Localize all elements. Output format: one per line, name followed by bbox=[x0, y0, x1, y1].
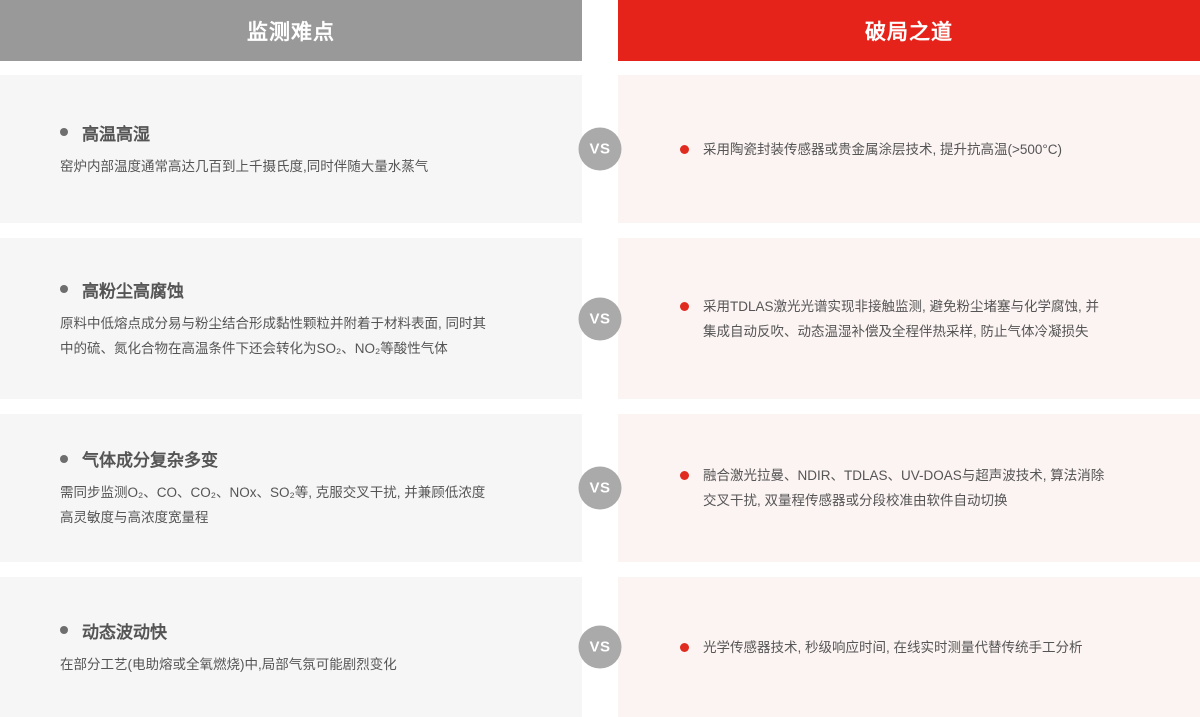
challenge-title: 高粉尘高腐蚀 bbox=[82, 277, 184, 302]
solution-item: 融合激光拉曼、NDIR、TDLAS、UV-DOAS与超声波技术, 算法消除交叉干… bbox=[680, 463, 1140, 513]
bullet-dot-icon bbox=[680, 643, 689, 652]
vs-badge: VS bbox=[579, 297, 622, 340]
challenge-title-wrap: 高温高湿 bbox=[60, 120, 526, 145]
challenge-description: 需同步监测O₂、CO、CO₂、NOx、SO₂等, 克服交叉干扰, 并兼顾低浓度高… bbox=[60, 480, 492, 530]
solution-item: 采用陶瓷封装传感器或贵金属涂层技术, 提升抗高温(>500°C) bbox=[680, 137, 1140, 162]
challenge-description: 原料中低熔点成分易与粉尘结合形成黏性颗粒并附着于材料表面, 同时其中的硫、氮化合… bbox=[60, 311, 492, 361]
challenge-cell: 动态波动快 在部分工艺(电助熔或全氧燃烧)中,局部气氛可能剧烈变化 bbox=[0, 577, 582, 717]
solution-cell: 光学传感器技术, 秒级响应时间, 在线实时测量代替传统手工分析 bbox=[618, 577, 1200, 717]
solution-text: 采用陶瓷封装传感器或贵金属涂层技术, 提升抗高温(>500°C) bbox=[703, 137, 1062, 162]
challenge-cell: 高粉尘高腐蚀 原料中低熔点成分易与粉尘结合形成黏性颗粒并附着于材料表面, 同时其… bbox=[0, 238, 582, 399]
comparison-board: 监测难点 破局之道 高温高湿 窑炉内部温度通常高达几百到上千摄氏度,同时伴随大量… bbox=[0, 0, 1200, 701]
solution-item: 采用TDLAS激光光谱实现非接触监测, 避免粉尘堵塞与化学腐蚀, 并集成自动反吹… bbox=[680, 294, 1140, 344]
challenge-title-wrap: 高粉尘高腐蚀 bbox=[60, 277, 526, 302]
comparison-row: 气体成分复杂多变 需同步监测O₂、CO、CO₂、NOx、SO₂等, 克服交叉干扰… bbox=[0, 414, 1200, 562]
challenge-title-wrap: 气体成分复杂多变 bbox=[60, 446, 526, 471]
challenge-description: 在部分工艺(电助熔或全氧燃烧)中,局部气氛可能剧烈变化 bbox=[60, 652, 492, 677]
solution-item: 光学传感器技术, 秒级响应时间, 在线实时测量代替传统手工分析 bbox=[680, 635, 1140, 660]
challenge-title: 动态波动快 bbox=[82, 618, 167, 643]
solution-cell: 融合激光拉曼、NDIR、TDLAS、UV-DOAS与超声波技术, 算法消除交叉干… bbox=[618, 414, 1200, 562]
challenge-title-wrap: 动态波动快 bbox=[60, 618, 526, 643]
header-divider bbox=[582, 0, 618, 61]
bullet-dot-icon bbox=[60, 128, 68, 136]
solution-text: 融合激光拉曼、NDIR、TDLAS、UV-DOAS与超声波技术, 算法消除交叉干… bbox=[703, 463, 1107, 513]
bullet-dot-icon bbox=[60, 285, 68, 293]
header-solutions: 破局之道 bbox=[618, 0, 1200, 61]
challenge-cell: 气体成分复杂多变 需同步监测O₂、CO、CO₂、NOx、SO₂等, 克服交叉干扰… bbox=[0, 414, 582, 562]
vs-badge: VS bbox=[579, 467, 622, 510]
solution-cell: 采用陶瓷封装传感器或贵金属涂层技术, 提升抗高温(>500°C) bbox=[618, 75, 1200, 223]
comparison-row: 动态波动快 在部分工艺(电助熔或全氧燃烧)中,局部气氛可能剧烈变化 光学传感器技… bbox=[0, 577, 1200, 717]
solution-cell: 采用TDLAS激光光谱实现非接触监测, 避免粉尘堵塞与化学腐蚀, 并集成自动反吹… bbox=[618, 238, 1200, 399]
solution-text: 采用TDLAS激光光谱实现非接触监测, 避免粉尘堵塞与化学腐蚀, 并集成自动反吹… bbox=[703, 294, 1107, 344]
header-challenges: 监测难点 bbox=[0, 0, 582, 61]
comparison-row: 高粉尘高腐蚀 原料中低熔点成分易与粉尘结合形成黏性颗粒并附着于材料表面, 同时其… bbox=[0, 238, 1200, 399]
bullet-dot-icon bbox=[60, 626, 68, 634]
bullet-dot-icon bbox=[680, 302, 689, 311]
bullet-dot-icon bbox=[680, 145, 689, 154]
challenge-description: 窑炉内部温度通常高达几百到上千摄氏度,同时伴随大量水蒸气 bbox=[60, 154, 492, 179]
challenge-title: 气体成分复杂多变 bbox=[82, 446, 218, 471]
vs-badge: VS bbox=[579, 128, 622, 171]
bullet-dot-icon bbox=[680, 471, 689, 480]
comparison-row: 高温高湿 窑炉内部温度通常高达几百到上千摄氏度,同时伴随大量水蒸气 采用陶瓷封装… bbox=[0, 75, 1200, 223]
comparison-rows: 高温高湿 窑炉内部温度通常高达几百到上千摄氏度,同时伴随大量水蒸气 采用陶瓷封装… bbox=[0, 75, 1200, 717]
solution-text: 光学传感器技术, 秒级响应时间, 在线实时测量代替传统手工分析 bbox=[703, 635, 1083, 660]
bullet-dot-icon bbox=[60, 455, 68, 463]
board-header: 监测难点 破局之道 bbox=[0, 0, 1200, 61]
vs-badge: VS bbox=[579, 626, 622, 669]
challenge-cell: 高温高湿 窑炉内部温度通常高达几百到上千摄氏度,同时伴随大量水蒸气 bbox=[0, 75, 582, 223]
challenge-title: 高温高湿 bbox=[82, 120, 150, 145]
